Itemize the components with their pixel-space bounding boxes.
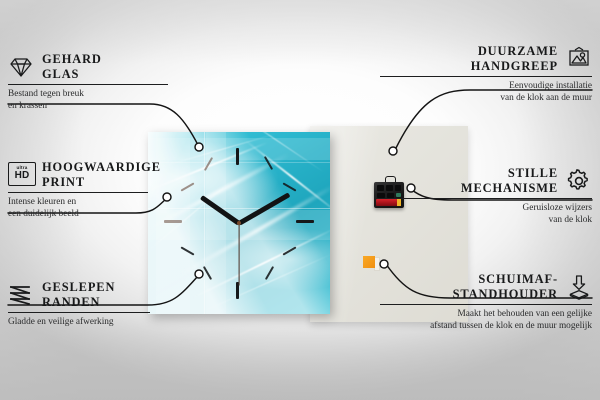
feature-schuimaf-standhouder: SCHUIMAF-STANDHOUDER Maakt het behouden … [380, 272, 592, 332]
feature-description: Bestand tegen breuken krassen [8, 89, 220, 112]
feature-title: SCHUIMAF-STANDHOUDER [453, 272, 558, 301]
feature-header: DUURZAMEHANDGREEP [380, 44, 592, 73]
feature-divider [8, 312, 150, 313]
feature-header: GEHARDGLAS [8, 52, 220, 81]
gear-icon [566, 168, 592, 194]
feature-title: GESLEPENRANDEN [42, 280, 115, 309]
feature-description: Eenvoudige installatievan de klok aan de… [380, 81, 592, 104]
feature-title: HOOGWAARDIGEPRINT [42, 160, 161, 189]
callout-dot-gehard-glas [195, 143, 203, 151]
diamond-icon [8, 54, 34, 80]
diagonal-lines-icon [8, 282, 34, 308]
feature-divider [380, 304, 592, 305]
press-down-pad-icon [566, 274, 592, 300]
infographic-canvas: GEHARDGLAS Bestand tegen breuken krassen… [0, 0, 600, 400]
feature-title: STILLEMECHANISME [461, 166, 558, 195]
feature-description: Gladde en veilige afwerking [8, 317, 220, 328]
feature-title: DUURZAMEHANDGREEP [471, 44, 558, 73]
feature-gehard-glas: GEHARDGLAS Bestand tegen breuken krassen [8, 52, 220, 112]
feature-divider [380, 76, 592, 77]
feature-stille-mechanisme: STILLEMECHANISME Geruisloze wijzersvan d… [380, 166, 592, 226]
picture-frame-hanging-icon [566, 46, 592, 72]
feature-geslepen-randen: GESLEPENRANDEN Gladde en veilige afwerki… [8, 280, 220, 329]
feature-description: Intense kleuren eneen duidelijk beeld [8, 197, 220, 220]
feature-header: ultra HD HOOGWAARDIGEPRINT [8, 160, 220, 189]
feature-title: GEHARDGLAS [42, 52, 102, 81]
feature-duurzame-handgreep: DUURZAMEHANDGREEP Eenvoudige installatie… [380, 44, 592, 104]
callout-dot-schuimaf-standhouder [380, 260, 388, 268]
feature-header: SCHUIMAF-STANDHOUDER [380, 272, 592, 301]
feature-description: Geruisloze wijzersvan de klok [380, 203, 592, 226]
feature-hoogwaardige-print: ultra HD HOOGWAARDIGEPRINT Intense kleur… [8, 160, 220, 220]
feature-divider [8, 192, 148, 193]
hd-label: HD [15, 171, 30, 181]
callout-dot-geslepen-randen [195, 270, 203, 278]
feature-divider [380, 198, 592, 199]
ultra-hd-badge-icon: ultra HD [8, 162, 34, 188]
feature-description: Maakt het behouden van een gelijkeafstan… [380, 309, 592, 332]
callout-dot-duurzame-handgreep [389, 147, 397, 155]
feature-header: GESLEPENRANDEN [8, 280, 220, 309]
feature-divider [8, 84, 168, 85]
feature-header: STILLEMECHANISME [380, 166, 592, 195]
